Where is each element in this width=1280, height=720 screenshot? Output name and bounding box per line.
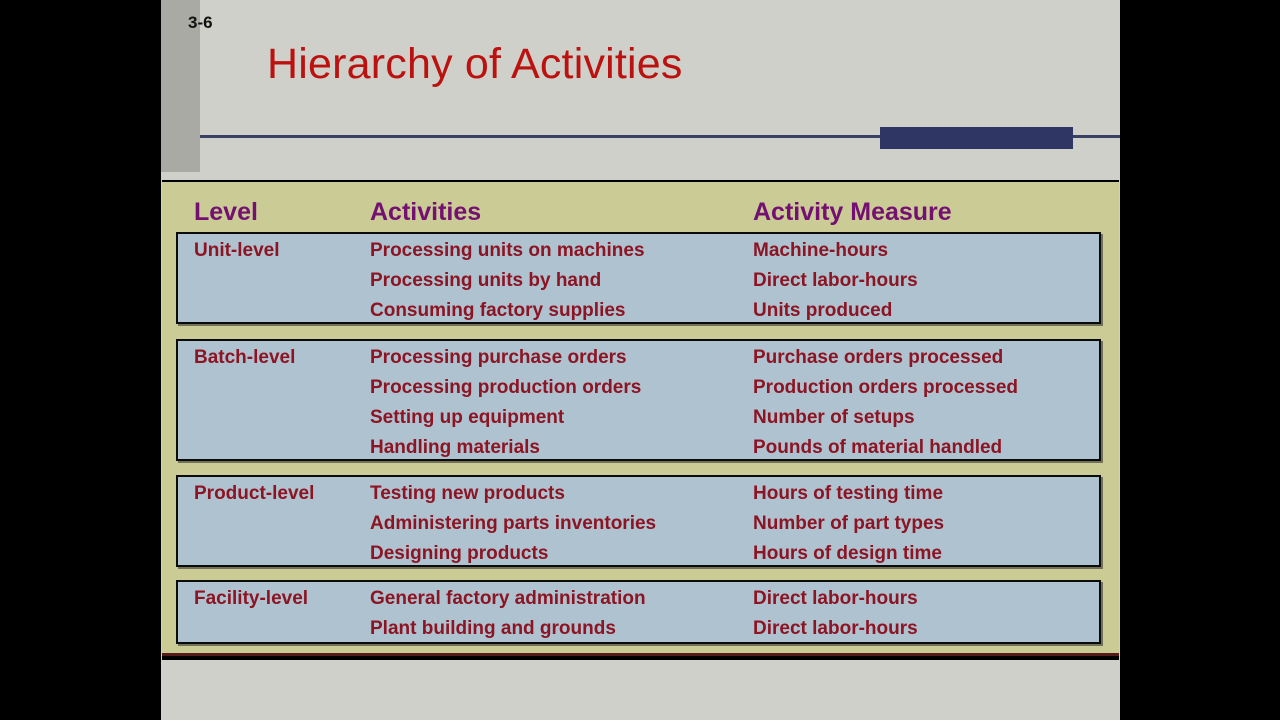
table-row-group-unit-level: Unit-level Processing units on machines …: [176, 232, 1101, 324]
measure-text: Direct labor-hours: [753, 588, 918, 610]
column-header-activities: Activities: [370, 198, 481, 227]
activity-text: Designing products: [370, 543, 548, 565]
activity-text: Plant building and grounds: [370, 618, 616, 640]
measure-text: Number of setups: [753, 407, 915, 429]
measure-text: Hours of design time: [753, 543, 942, 565]
activity-table-panel: Level Activities Activity Measure Unit-l…: [162, 180, 1119, 653]
activity-text: Processing units on machines: [370, 240, 645, 262]
measure-text: Hours of testing time: [753, 483, 943, 505]
activity-text: General factory administration: [370, 588, 646, 610]
table-row-group-facility-level: Facility-level General factory administr…: [176, 580, 1101, 644]
column-header-activity-measure: Activity Measure: [753, 198, 952, 227]
activity-text: Setting up equipment: [370, 407, 564, 429]
slide-canvas: 3-6 Hierarchy of Activities Level Activi…: [161, 0, 1120, 720]
measure-text: Machine-hours: [753, 240, 888, 262]
slide-number: 3-6: [188, 13, 213, 33]
activity-text: Processing units by hand: [370, 270, 601, 292]
level-label: Facility-level: [194, 588, 308, 610]
measure-text: Direct labor-hours: [753, 618, 918, 640]
measure-text: Purchase orders processed: [753, 347, 1003, 369]
presentation-screen: 3-6 Hierarchy of Activities Level Activi…: [0, 0, 1280, 720]
measure-text: Direct labor-hours: [753, 270, 918, 292]
measure-text: Production orders processed: [753, 377, 1018, 399]
level-label: Batch-level: [194, 347, 295, 369]
panel-shadow-line: [162, 656, 1119, 660]
table-row-group-product-level: Product-level Testing new products Hours…: [176, 475, 1101, 567]
title-accent-bar: [880, 127, 1073, 149]
activity-text: Administering parts inventories: [370, 513, 656, 535]
measure-text: Units produced: [753, 300, 892, 322]
measure-text: Number of part types: [753, 513, 944, 535]
level-label: Product-level: [194, 483, 314, 505]
activity-text: Testing new products: [370, 483, 565, 505]
activity-text: Consuming factory supplies: [370, 300, 625, 322]
activity-text: Processing purchase orders: [370, 347, 627, 369]
page-title: Hierarchy of Activities: [267, 40, 683, 89]
level-label: Unit-level: [194, 240, 280, 262]
activity-text: Processing production orders: [370, 377, 641, 399]
table-row-group-batch-level: Batch-level Processing purchase orders P…: [176, 339, 1101, 461]
activity-text: Handling materials: [370, 437, 540, 459]
column-header-level: Level: [194, 198, 258, 227]
measure-text: Pounds of material handled: [753, 437, 1002, 459]
